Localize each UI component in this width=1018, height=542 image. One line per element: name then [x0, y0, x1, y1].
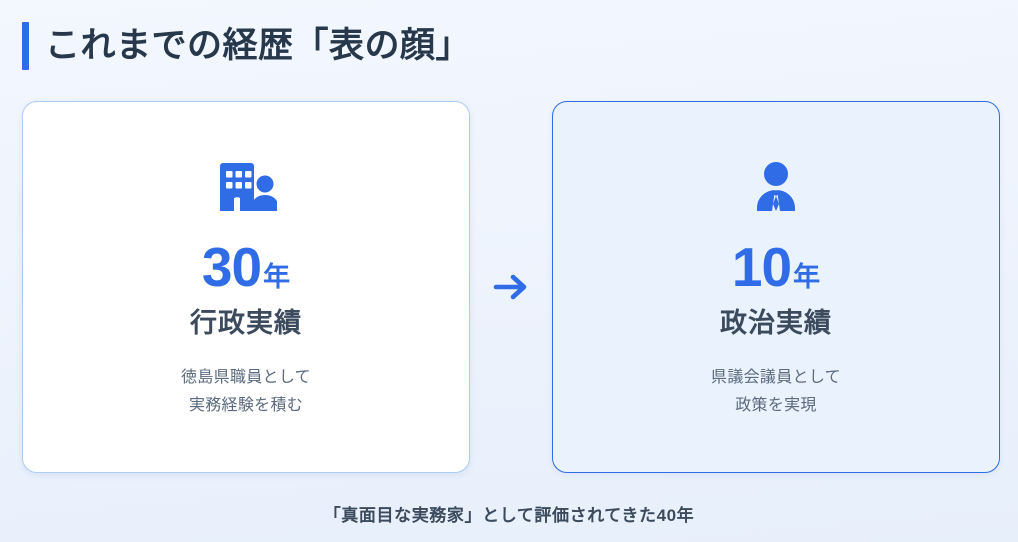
stat-value-line: 30 年: [202, 240, 290, 295]
stat-description-line-2: 政策を実現: [711, 392, 841, 420]
business-person-tie-icon: [751, 156, 801, 218]
stat-unit: 年: [263, 264, 290, 291]
stat-unit: 年: [793, 264, 820, 291]
title-accent-bar: [22, 22, 29, 70]
stat-label: 政治実績: [720, 301, 832, 340]
stat-description: 県議会議員として 政策を実現: [711, 364, 841, 420]
stat-description-line-1: 徳島県職員として: [181, 364, 311, 392]
footer-caption: 「真面目な実務家」として評価されてきた40年: [0, 501, 1018, 526]
career-cards-row: 30 年 行政実績 徳島県職員として 実務経験を積む: [22, 101, 1000, 473]
card-political-career[interactable]: 10 年 政治実績 県議会議員として 政策を実現: [552, 101, 1000, 473]
page-title: これまでの経歴「表の顔」: [45, 27, 471, 66]
card-separator: [470, 101, 552, 473]
stat-description-line-1: 県議会議員として: [711, 364, 841, 392]
stat-label: 行政実績: [190, 301, 302, 340]
stat-description-line-2: 実務経験を積む: [181, 392, 311, 420]
card-administrative-career[interactable]: 30 年 行政実績 徳島県職員として 実務経験を積む: [22, 101, 470, 473]
stat-number: 30: [202, 240, 261, 295]
stat-number: 10: [732, 240, 791, 295]
page-header: これまでの経歴「表の顔」: [0, 0, 1018, 72]
stat-value-line: 10 年: [732, 240, 820, 295]
building-person-icon: [215, 156, 277, 218]
arrow-right-icon: [489, 265, 533, 309]
stat-description: 徳島県職員として 実務経験を積む: [181, 364, 311, 420]
